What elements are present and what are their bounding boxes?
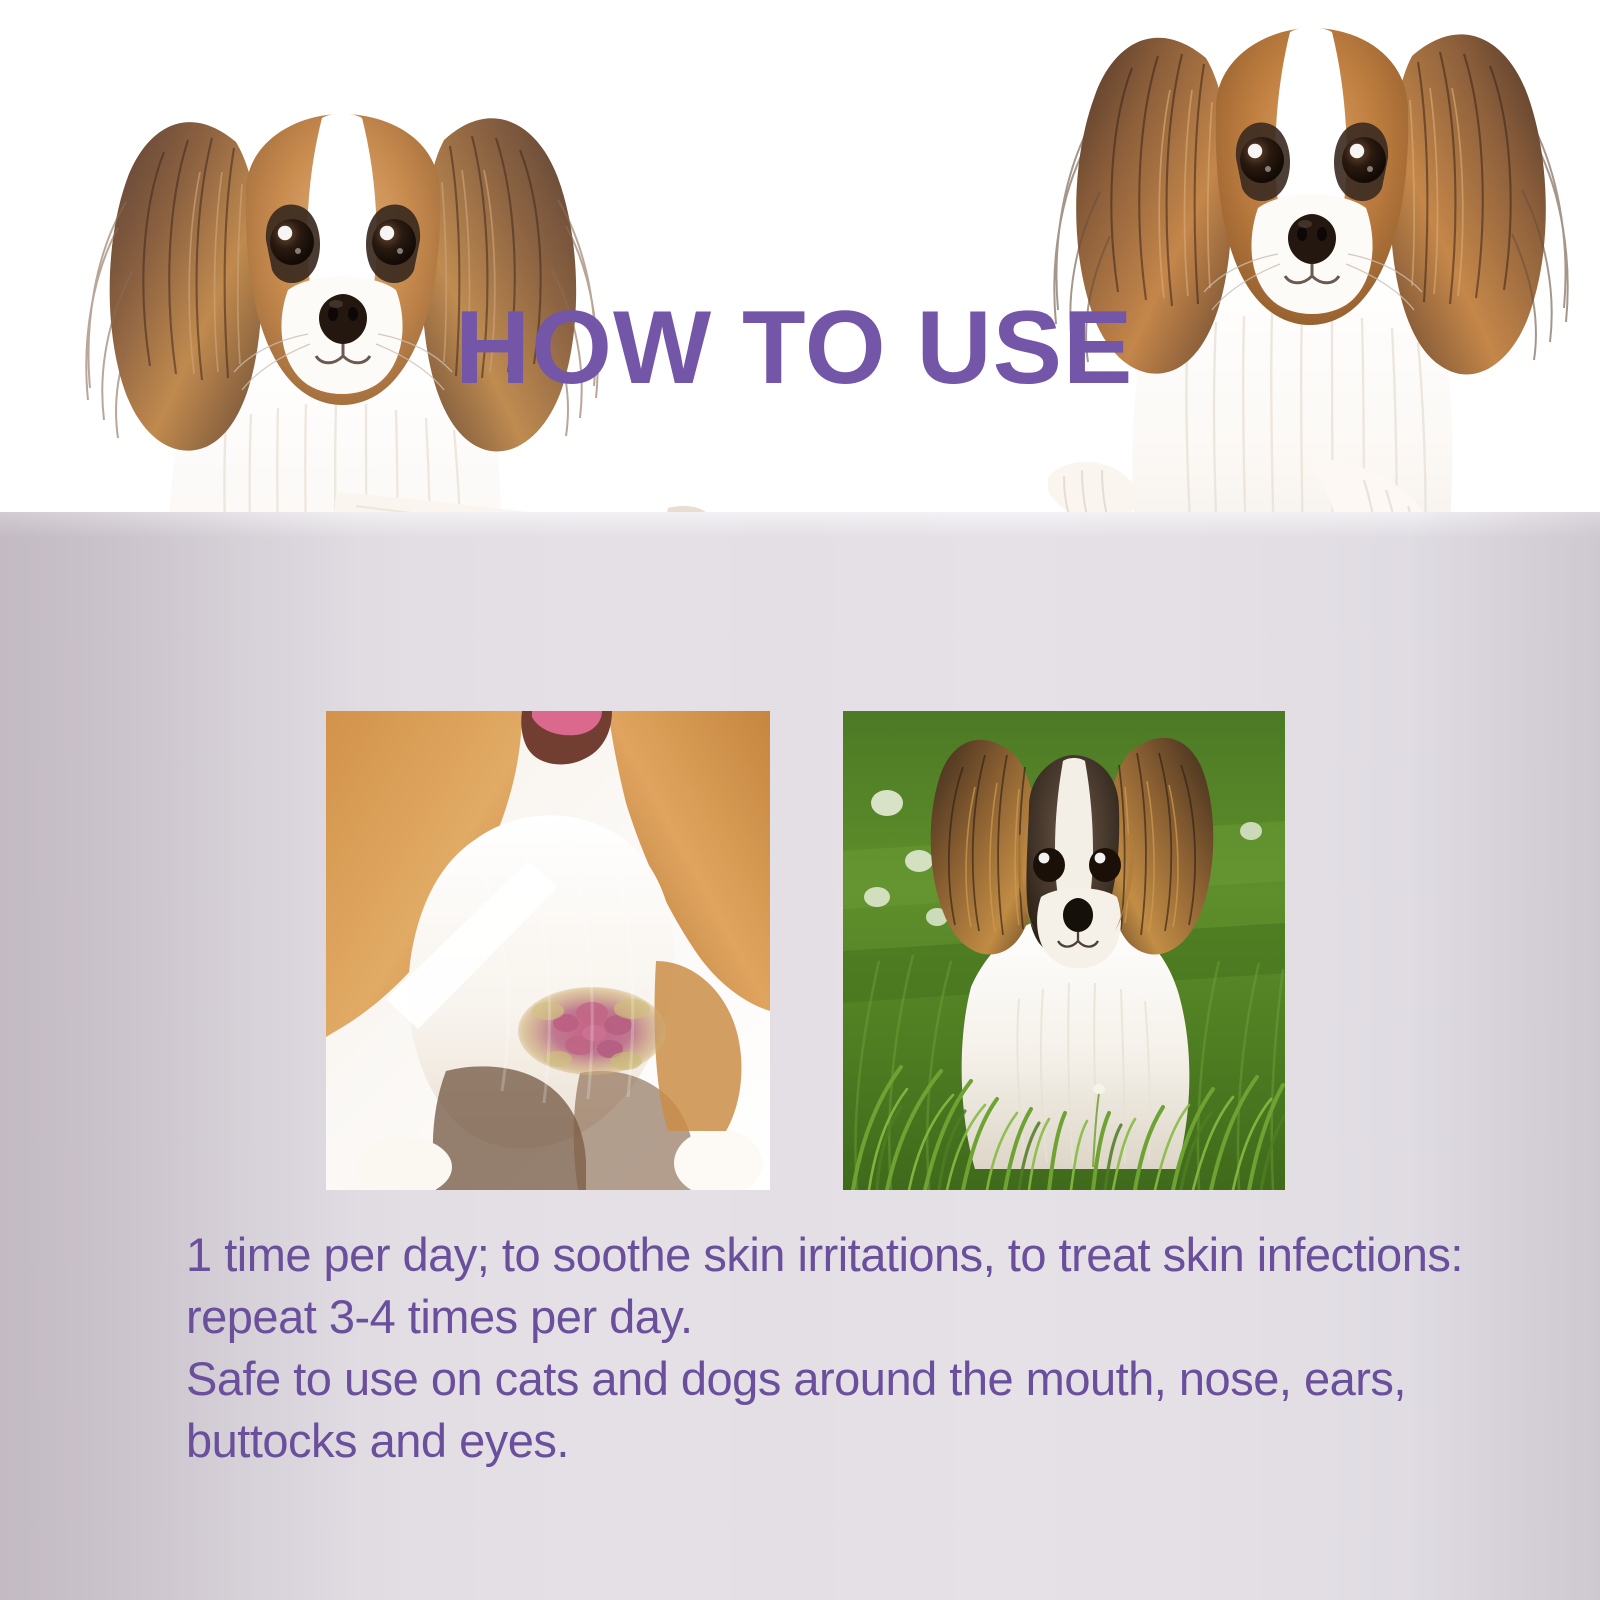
photo-dog-skin-irritation: [326, 711, 770, 1190]
page-title: HOW TO USE: [455, 296, 1195, 400]
instructions-text: 1 time per day; to soothe skin irritatio…: [186, 1224, 1506, 1472]
poster-canvas: HOW TO USE: [0, 0, 1600, 1600]
photo-papillon-in-grass: [843, 711, 1285, 1190]
